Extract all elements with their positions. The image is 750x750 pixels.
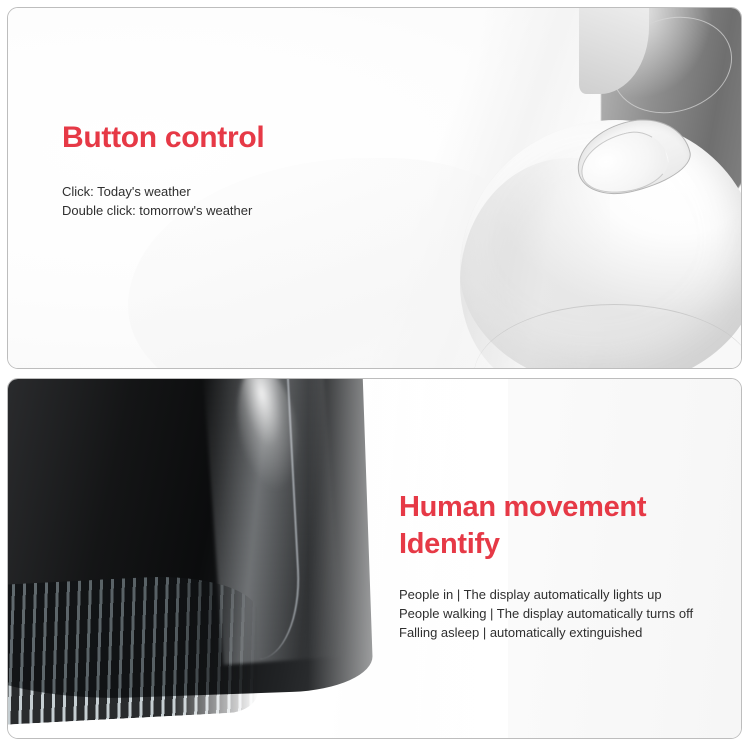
panel-1-body-lines: Click: Today's weather Double click: tom… — [62, 182, 442, 220]
panel-2-body-line-3: Falling asleep | automatically extinguis… — [399, 623, 729, 642]
panel-2-body-lines: People in | The display automatically li… — [399, 585, 729, 642]
panel-1-body-line-2: Double click: tomorrow's weather — [62, 201, 442, 220]
panel-1-heading: Button control — [62, 120, 442, 156]
panel-1-text-block: Button control Click: Today's weather Do… — [62, 120, 442, 220]
panel-2-body-line-1: People in | The display automatically li… — [399, 585, 729, 604]
panel-button-control: Button control Click: Today's weather Do… — [7, 7, 742, 369]
panel-human-movement: Human movement Identify People in | The … — [7, 378, 742, 739]
panel-2-text-block: Human movement Identify People in | The … — [399, 489, 729, 642]
panel-1-body-line-1: Click: Today's weather — [62, 182, 442, 201]
vent-ribs — [7, 571, 258, 726]
panel-2-heading-line-1: Human movement — [399, 491, 646, 523]
panel-2-heading: Human movement Identify — [399, 489, 729, 563]
panel-2-body-line-2: People walking | The display automatical… — [399, 604, 729, 623]
feature-image-stage: Button control Click: Today's weather Do… — [0, 0, 750, 750]
panel-2-heading-line-2: Identify — [399, 528, 500, 560]
